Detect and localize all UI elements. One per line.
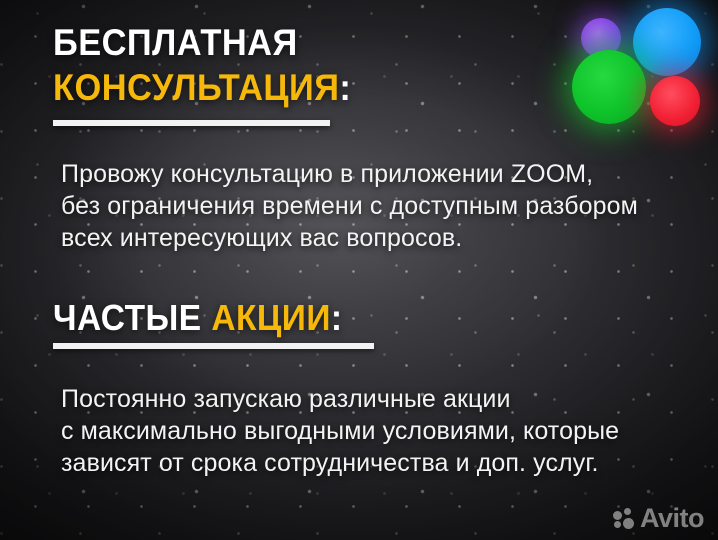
- section2-heading-accent: АКЦИИ: [211, 297, 331, 338]
- section2-body-line-2: с максимально выгодными условиями, котор…: [61, 415, 619, 447]
- section2-heading-colon: :: [331, 297, 343, 338]
- section2-body-line-3: зависят от срока сотрудничества и доп. у…: [61, 447, 619, 479]
- avito-wordmark: Avito: [640, 505, 704, 532]
- section1-body-line-2: без ограничения времени с доступным разб…: [61, 190, 638, 222]
- section1-heading-accent: КОНСУЛЬТАЦИЯ: [53, 67, 339, 108]
- section1-heading-colon: :: [339, 67, 351, 108]
- promo-poster: БЕСПЛАТНАЯ КОНСУЛЬТАЦИЯ: Провожу консуль…: [0, 0, 718, 540]
- avito-watermark: Avito: [613, 505, 704, 532]
- poster-content: БЕСПЛАТНАЯ КОНСУЛЬТАЦИЯ: Провожу консуль…: [53, 0, 718, 540]
- section2-underline-rule: [53, 343, 374, 349]
- section2-heading: ЧАСТЫЕ АКЦИИ:: [53, 300, 343, 336]
- section1-body-line-1: Провожу консультацию в приложении ZOOM,: [61, 158, 638, 190]
- section1-body-line-3: всех интересующих вас вопросов.: [61, 222, 638, 254]
- section1-body-paragraph: Провожу консультацию в приложении ZOOM, …: [61, 158, 638, 254]
- avito-dots-icon: [613, 508, 635, 530]
- section1-heading-line2: КОНСУЛЬТАЦИЯ:: [53, 69, 351, 106]
- section2-body-paragraph: Постоянно запускаю различные акции с мак…: [61, 383, 619, 479]
- section1-heading-line1-text: БЕСПЛАТНАЯ: [53, 22, 298, 63]
- section2-heading-white: ЧАСТЫЕ: [53, 297, 202, 338]
- section1-heading-line1: БЕСПЛАТНАЯ: [53, 24, 298, 61]
- section2-body-line-1: Постоянно запускаю различные акции: [61, 383, 619, 415]
- section1-underline-rule: [53, 120, 330, 126]
